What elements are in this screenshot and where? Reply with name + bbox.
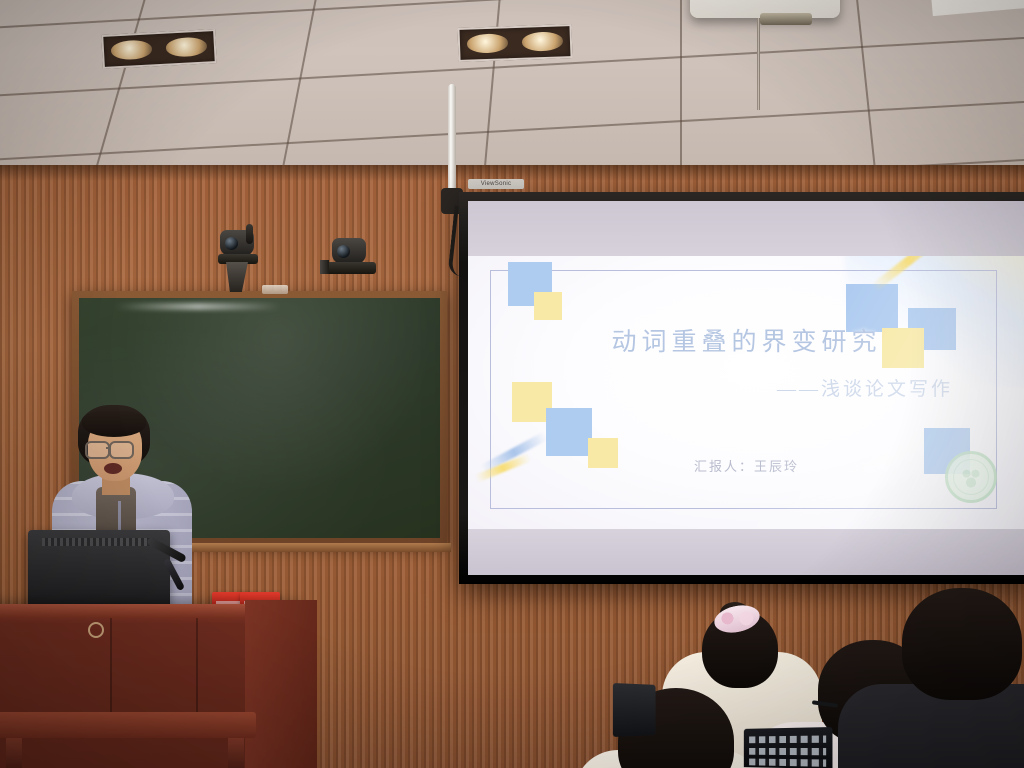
- laptop-screen-row: [749, 759, 826, 767]
- letterbox-bottom: [468, 529, 1024, 575]
- downlight-lamp: [110, 40, 153, 61]
- eyeglasses-icon: [109, 441, 134, 459]
- slide-presenter: 汇报人：王辰玲: [468, 456, 1024, 475]
- university-emblem-icon: [945, 451, 997, 503]
- downlight-lamp: [466, 34, 508, 54]
- letterbox-top: [468, 201, 1024, 256]
- student-tablet[interactable]: [613, 683, 656, 737]
- eyeglasses-icon: [85, 441, 110, 459]
- front-bench: [0, 712, 256, 738]
- recessed-downlight: [457, 24, 572, 62]
- slide-subtitle: ——浅谈论文写作: [777, 374, 953, 401]
- laptop-screen-row: [749, 735, 826, 743]
- ceiling-grid-line: [846, 0, 885, 190]
- camera-lens: [337, 245, 350, 258]
- ceiling-grid-line: [267, 0, 336, 190]
- camera-base: [324, 262, 376, 274]
- ceiling-grid-line: [74, 0, 172, 190]
- bench-leg: [6, 738, 22, 768]
- projector-mount-rod: [757, 18, 760, 110]
- podium-lock: [88, 622, 104, 638]
- lecturer-mouth: [104, 463, 122, 474]
- bench-leg: [228, 738, 244, 768]
- camera-stem: [246, 224, 253, 244]
- ceiling-projector: [690, 0, 840, 18]
- screen-drop-rod: [448, 84, 456, 196]
- camera-lens: [225, 237, 238, 250]
- lecturer-fringe: [82, 411, 146, 437]
- presentation-slide[interactable]: 动词重叠的界变研究 ——浅谈论文写作 汇报人：王辰玲: [468, 256, 1024, 529]
- podium-side-panel: [245, 600, 317, 768]
- suspended-ceiling: [0, 0, 1024, 190]
- camera-arm: [320, 260, 329, 274]
- ceiling-grid-line: [680, 0, 682, 190]
- emblem-ring: [953, 459, 989, 495]
- monitor-vents: [42, 538, 154, 546]
- downlight-lamp: [521, 32, 563, 52]
- slide-title: 动词重叠的界变研究: [468, 322, 1024, 358]
- camera-body: [332, 238, 366, 264]
- wall-plate: [262, 285, 288, 294]
- projection-screen-surface[interactable]: 动词重叠的界变研究 ——浅谈论文写作 汇报人：王辰玲: [468, 201, 1024, 575]
- classroom-scene: ViewSonic 动词重叠的界变研究 ——浅谈论文写作 汇报人：王辰玲: [0, 0, 1024, 768]
- downlight-lamp: [165, 37, 208, 58]
- student-head: [902, 588, 1022, 700]
- student-laptop[interactable]: [744, 727, 833, 768]
- screen-brand-label: ViewSonic: [468, 179, 524, 189]
- laptop-screen-row: [749, 748, 826, 755]
- projection-screen-bezel: 动词重叠的界变研究 ——浅谈论文写作 汇报人：王辰玲: [459, 192, 1024, 584]
- recessed-downlight: [101, 29, 217, 69]
- eyeglasses-bridge: [106, 447, 111, 449]
- blackboard-glare: [115, 303, 281, 310]
- square-bottom-left-blue: [546, 408, 592, 456]
- square-top-left-yellow: [534, 292, 562, 320]
- projector-lens: [760, 13, 812, 25]
